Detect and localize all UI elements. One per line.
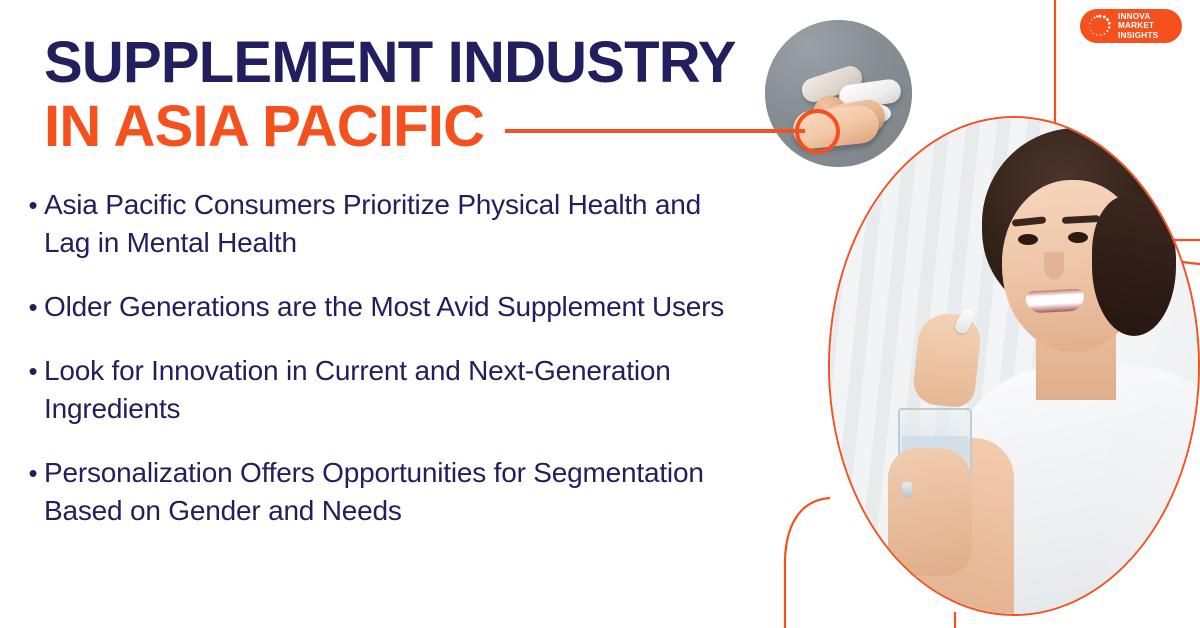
- logo-line-3: INSIGHTS: [1118, 31, 1158, 40]
- key-takeaways-list: • Asia Pacific Consumers Prioritize Phys…: [22, 186, 762, 556]
- orange-arc-bottom-left: [785, 498, 830, 628]
- woman-nose: [1044, 252, 1064, 280]
- bullet-dot-icon: •: [22, 288, 44, 326]
- list-item: • Older Generations are the Most Avid Su…: [22, 288, 762, 326]
- logo-line-2: MARKET: [1118, 21, 1158, 30]
- logo-wordmark: INNOVA MARKET INSIGHTS: [1118, 12, 1158, 40]
- slide-canvas: SUPPLEMENT INDUSTRY IN ASIA PACIFIC • As…: [0, 0, 1200, 628]
- list-item: • Look for Innovation in Current and Nex…: [22, 352, 762, 428]
- woman-eye-left: [1018, 234, 1038, 245]
- woman-hair-side: [1092, 196, 1176, 336]
- list-item-label: Older Generations are the Most Avid Supp…: [44, 288, 724, 326]
- logo-line-1: INNOVA: [1118, 12, 1158, 21]
- title-line-1: SUPPLEMENT INDUSTRY: [44, 34, 764, 92]
- list-item: • Personalization Offers Opportunities f…: [22, 454, 762, 530]
- woman-eye-right: [1068, 232, 1088, 243]
- dotted-circle-icon: [1087, 13, 1113, 39]
- woman-sleeve: [1106, 400, 1200, 616]
- list-item: • Asia Pacific Consumers Prioritize Phys…: [22, 186, 762, 262]
- list-item-label: Look for Innovation in Current and Next-…: [44, 352, 734, 428]
- bullet-dot-icon: •: [22, 454, 44, 492]
- list-item-label: Asia Pacific Consumers Prioritize Physic…: [44, 186, 734, 262]
- bullet-dot-icon: •: [22, 186, 44, 224]
- list-item-label: Personalization Offers Opportunities for…: [44, 454, 734, 530]
- bullet-dot-icon: •: [22, 352, 44, 390]
- title-line-2: IN ASIA PACIFIC: [44, 98, 764, 156]
- innova-market-insights-logo[interactable]: INNOVA MARKET INSIGHTS: [1080, 9, 1182, 43]
- pills-photo-circle: [765, 20, 912, 167]
- woman-portrait-oval: [828, 116, 1200, 616]
- title-connector-line: [505, 129, 805, 133]
- finger-ring: [902, 482, 912, 498]
- woman-hand-holding-glass: [888, 448, 972, 576]
- magnifier-ring: [795, 109, 840, 154]
- page-title: SUPPLEMENT INDUSTRY IN ASIA PACIFIC: [44, 34, 764, 156]
